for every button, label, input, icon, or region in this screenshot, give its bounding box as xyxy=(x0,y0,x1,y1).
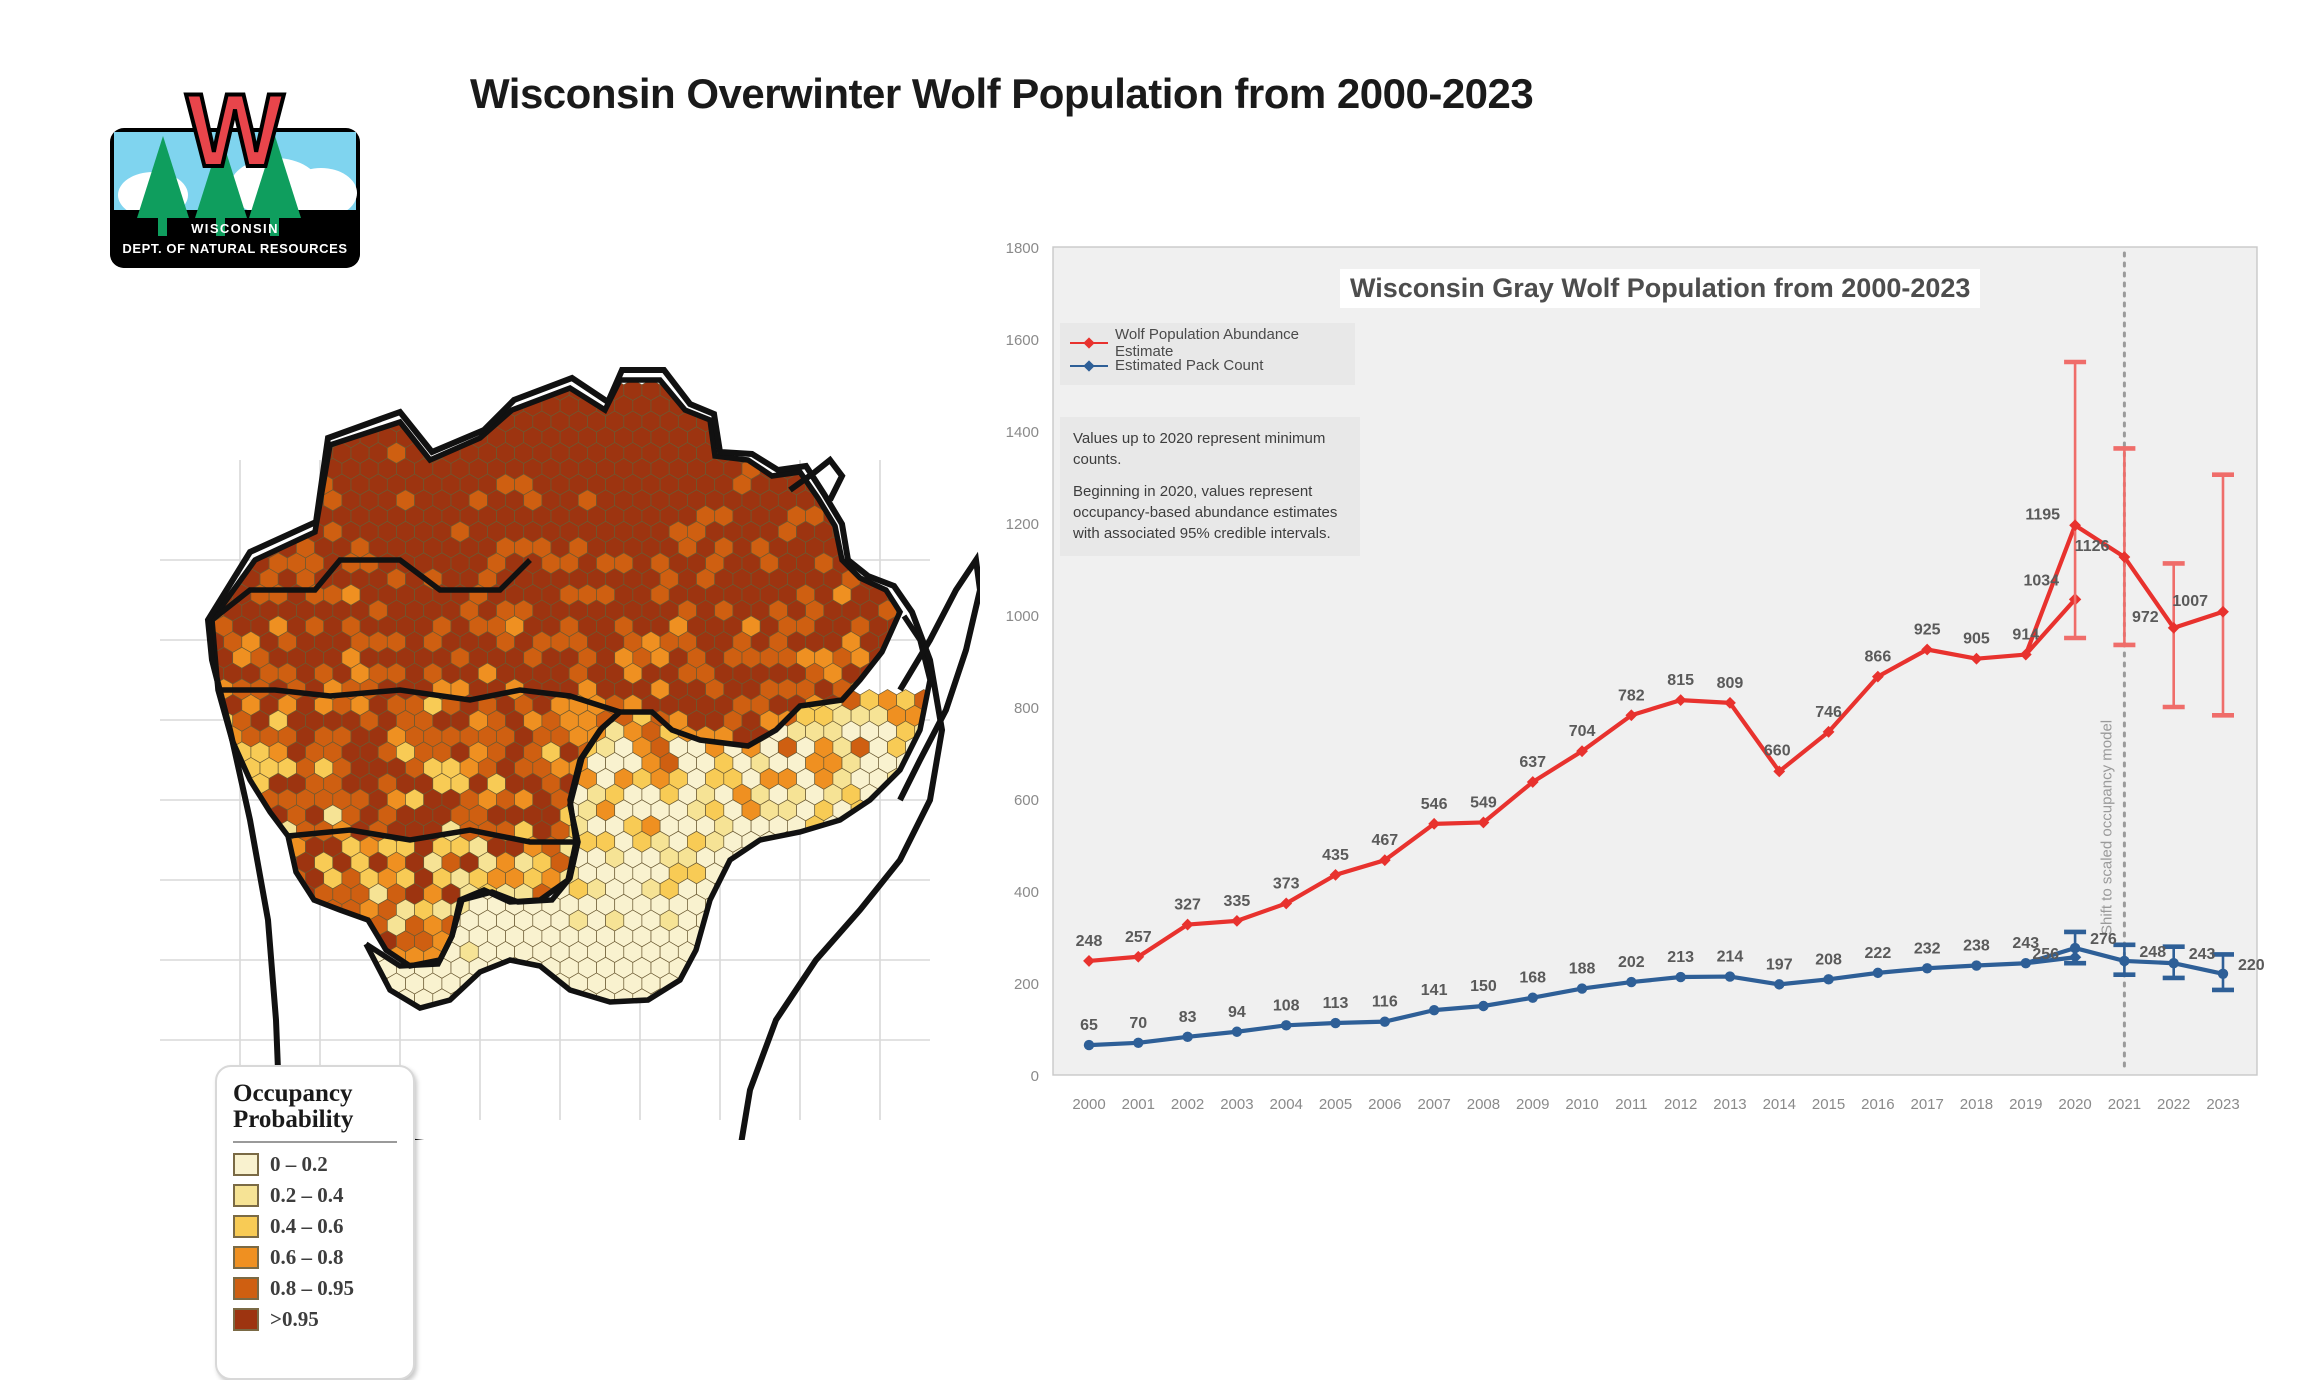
data-point-marker xyxy=(2168,958,2178,968)
x-axis-tick-label: 2003 xyxy=(1220,1096,1253,1113)
legend-swatch-packcount xyxy=(1070,360,1108,372)
data-label: 208 xyxy=(1815,951,1842,968)
y-axis-tick-label: 400 xyxy=(1014,884,1039,901)
map-legend-swatch xyxy=(233,1246,259,1269)
chart-note-line2: Beginning in 2020, values represent occu… xyxy=(1073,482,1347,544)
logo-letter-w: W xyxy=(182,88,288,180)
map-legend-swatch xyxy=(233,1308,259,1331)
data-point-marker xyxy=(1873,968,1883,978)
y-axis-tick-label: 1000 xyxy=(1006,608,1039,625)
data-label: 782 xyxy=(1618,687,1645,704)
data-label: 972 xyxy=(2132,609,2159,626)
data-label: 116 xyxy=(1372,994,1398,1011)
map-legend-row: 0 – 0.2 xyxy=(233,1152,397,1177)
data-label: 866 xyxy=(1865,649,1892,666)
map-legend-divider xyxy=(233,1141,397,1143)
map-legend-title-line2: Probability xyxy=(233,1107,397,1133)
x-axis-tick-label: 2013 xyxy=(1713,1096,1746,1113)
x-axis-tick-label: 2006 xyxy=(1368,1096,1401,1113)
data-point-marker xyxy=(2218,969,2228,979)
data-label: 546 xyxy=(1421,796,1448,813)
wisconsin-occupancy-map: Occupancy Probability 0 – 0.20.2 – 0.40.… xyxy=(100,260,980,1140)
y-axis-tick-label: 800 xyxy=(1014,700,1039,717)
wisconsin-dnr-logo: WISCONSIN DEPT. OF NATURAL RESOURCES W xyxy=(110,88,360,268)
map-legend-rows: 0 – 0.20.2 – 0.40.4 – 0.60.6 – 0.80.8 – … xyxy=(233,1152,397,1332)
data-point-marker xyxy=(1084,1040,1094,1050)
legend-label-abundance: Wolf Population Abundance Estimate xyxy=(1115,326,1345,360)
x-axis-tick-label: 2018 xyxy=(1960,1096,1993,1113)
data-point-marker xyxy=(1725,971,1735,981)
x-axis-tick-label: 2008 xyxy=(1467,1096,1500,1113)
data-label: 435 xyxy=(1322,847,1349,864)
map-legend-swatch xyxy=(233,1215,259,1238)
map-legend-title: Occupancy Probability xyxy=(233,1081,397,1134)
data-label: 197 xyxy=(1766,956,1793,973)
data-label: 214 xyxy=(1717,949,1744,966)
data-label: 188 xyxy=(1569,961,1596,978)
data-label: 238 xyxy=(1963,938,1990,955)
x-axis-tick-label: 2007 xyxy=(1417,1096,1450,1113)
y-axis-tick-label: 1200 xyxy=(1006,516,1039,533)
data-label: 467 xyxy=(1371,832,1398,849)
data-point-marker xyxy=(1330,1018,1340,1028)
data-label: 809 xyxy=(1717,675,1744,692)
x-axis-tick-label: 2005 xyxy=(1319,1096,1352,1113)
map-legend-label: 0 – 0.2 xyxy=(270,1152,328,1177)
y-axis-tick-label: 1600 xyxy=(1006,332,1039,349)
map-legend: Occupancy Probability 0 – 0.20.2 – 0.40.… xyxy=(215,1065,415,1380)
y-axis-tick-label: 1400 xyxy=(1006,424,1039,441)
map-legend-label: >0.95 xyxy=(270,1307,319,1332)
map-svg xyxy=(100,260,980,1140)
x-axis-tick-label: 2021 xyxy=(2108,1096,2141,1113)
data-label: 257 xyxy=(1125,929,1152,946)
data-label: 248 xyxy=(2139,944,2166,961)
data-label: 70 xyxy=(1129,1015,1147,1032)
data-point-marker xyxy=(1429,1005,1439,1015)
data-point-marker xyxy=(2119,956,2129,966)
data-label: 905 xyxy=(1963,631,1990,648)
data-label: 113 xyxy=(1323,995,1349,1012)
map-legend-label: 0.6 – 0.8 xyxy=(270,1245,344,1270)
page-title: Wisconsin Overwinter Wolf Population fro… xyxy=(470,70,1720,118)
data-label: 925 xyxy=(1914,622,1941,639)
data-point-marker xyxy=(1478,1001,1488,1011)
data-point-marker xyxy=(1774,979,1784,989)
data-point-marker xyxy=(1281,1020,1291,1030)
data-label: 1007 xyxy=(2172,593,2208,610)
logo-text-wisconsin: WISCONSIN xyxy=(110,221,360,236)
x-axis-tick-label: 2022 xyxy=(2157,1096,2190,1113)
y-axis-tick-label: 0 xyxy=(1031,1068,1039,1085)
data-point-marker xyxy=(1577,983,1587,993)
data-label: 243 xyxy=(2012,935,2039,952)
x-axis-tick-label: 2011 xyxy=(1615,1096,1647,1113)
data-label: 65 xyxy=(1080,1017,1098,1034)
chart-note-line1: Values up to 2020 represent minimum coun… xyxy=(1073,429,1347,470)
data-label: 815 xyxy=(1667,672,1694,689)
x-axis-tick-label: 2002 xyxy=(1171,1096,1204,1113)
x-axis-tick-label: 2016 xyxy=(1861,1096,1894,1113)
map-legend-row: 0.6 – 0.8 xyxy=(233,1245,397,1270)
data-label: 108 xyxy=(1273,997,1300,1014)
x-axis-tick-label: 2017 xyxy=(1910,1096,1943,1113)
data-label: 549 xyxy=(1470,794,1497,811)
data-point-marker xyxy=(1528,993,1538,1003)
data-label: 222 xyxy=(1865,945,1892,962)
map-legend-label: 0.4 – 0.6 xyxy=(270,1214,344,1239)
map-legend-swatch xyxy=(233,1153,259,1176)
data-label: 373 xyxy=(1273,875,1300,892)
map-legend-row: 0.2 – 0.4 xyxy=(233,1183,397,1208)
x-axis-tick-label: 2014 xyxy=(1763,1096,1796,1113)
y-axis-tick-label: 1800 xyxy=(1006,240,1039,257)
map-legend-row: 0.8 – 0.95 xyxy=(233,1276,397,1301)
x-axis-tick-label: 2020 xyxy=(2058,1096,2091,1113)
chart-legend: Wolf Population Abundance Estimate Estim… xyxy=(1060,323,1355,385)
data-label: 704 xyxy=(1569,723,1596,740)
data-point-marker xyxy=(1232,1027,1242,1037)
data-label: 327 xyxy=(1174,897,1201,914)
x-axis-tick-label: 2001 xyxy=(1122,1096,1155,1113)
legend-swatch-abundance xyxy=(1070,337,1108,349)
data-point-marker xyxy=(1823,974,1833,984)
legend-item-abundance[interactable]: Wolf Population Abundance Estimate xyxy=(1070,331,1345,354)
data-point-marker xyxy=(1182,1032,1192,1042)
data-label: 637 xyxy=(1519,754,1546,771)
data-label: 914 xyxy=(2012,627,2039,644)
data-label: 1195 xyxy=(2025,506,2060,523)
x-axis-tick-label: 2010 xyxy=(1565,1096,1598,1113)
map-legend-swatch xyxy=(233,1277,259,1300)
y-axis-tick-label: 200 xyxy=(1014,976,1039,993)
data-label: 220 xyxy=(2238,957,2265,974)
data-point-marker xyxy=(2021,958,2031,968)
data-label: 150 xyxy=(1470,978,1497,995)
map-legend-label: 0.2 – 0.4 xyxy=(270,1183,344,1208)
data-label: 1034 xyxy=(2023,572,2059,589)
logo-text-dnr: DEPT. OF NATURAL RESOURCES xyxy=(110,241,360,256)
map-legend-row: 0.4 – 0.6 xyxy=(233,1214,397,1239)
data-label: 660 xyxy=(1764,742,1791,759)
map-legend-row: >0.95 xyxy=(233,1307,397,1332)
data-point-marker xyxy=(1922,963,1932,973)
data-point-marker xyxy=(1380,1016,1390,1026)
x-axis-tick-label: 2023 xyxy=(2206,1096,2239,1113)
data-label: 746 xyxy=(1815,704,1842,721)
data-point-marker xyxy=(1675,972,1685,982)
data-point-marker xyxy=(1133,1038,1143,1048)
chart-note-box: Values up to 2020 represent minimum coun… xyxy=(1060,417,1360,556)
x-axis-tick-label: 2015 xyxy=(1812,1096,1845,1113)
x-axis-tick-label: 2019 xyxy=(2009,1096,2042,1113)
x-axis-tick-label: 2009 xyxy=(1516,1096,1549,1113)
x-axis-tick-label: 2000 xyxy=(1072,1096,1105,1113)
data-label: 1126 xyxy=(2075,538,2110,555)
map-legend-label: 0.8 – 0.95 xyxy=(270,1276,354,1301)
data-label: 202 xyxy=(1618,954,1645,971)
data-label: 276 xyxy=(2090,931,2117,948)
data-label: 335 xyxy=(1224,893,1251,910)
data-point-marker xyxy=(1626,977,1636,987)
data-label: 243 xyxy=(2189,946,2216,963)
y-axis-tick-label: 600 xyxy=(1014,792,1039,809)
chart-title: Wisconsin Gray Wolf Population from 2000… xyxy=(1340,269,1980,308)
x-axis-tick-label: 2012 xyxy=(1664,1096,1697,1113)
data-label: 248 xyxy=(1076,933,1103,950)
map-legend-title-line1: Occupancy xyxy=(233,1081,397,1107)
data-label: 83 xyxy=(1179,1009,1197,1026)
data-label: 232 xyxy=(1914,940,1941,957)
data-label: 168 xyxy=(1519,970,1546,987)
data-label: 94 xyxy=(1228,1004,1246,1021)
data-point-marker xyxy=(2070,943,2080,953)
map-legend-swatch xyxy=(233,1184,259,1207)
shift-marker-label: Shift to scaled occupancy model xyxy=(2098,720,2115,935)
wolf-population-chart: 0200400600800100012001400160018002000200… xyxy=(985,225,2285,1145)
x-axis-tick-label: 2004 xyxy=(1270,1096,1303,1113)
data-label: 213 xyxy=(1667,949,1694,966)
data-point-marker xyxy=(1971,960,1981,970)
legend-label-packcount: Estimated Pack Count xyxy=(1115,357,1263,374)
data-label: 141 xyxy=(1421,982,1448,999)
